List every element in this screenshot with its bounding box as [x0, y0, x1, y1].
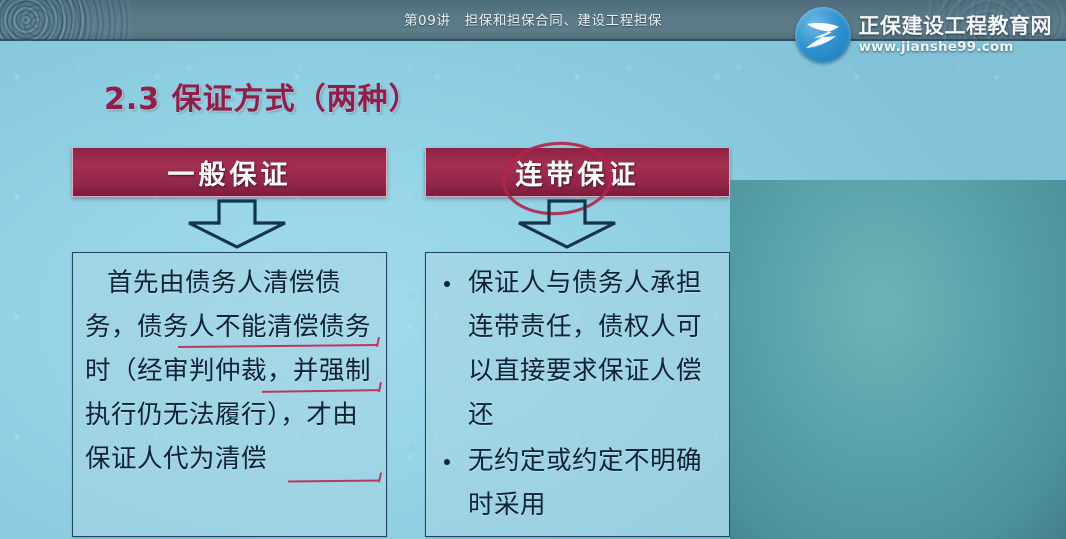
bullet-dot-icon [444, 459, 450, 465]
site-logo[interactable]: 正保建设工程教育网 www.jianshe99.com [795, 4, 1053, 66]
bullet-dot-icon [444, 281, 450, 287]
content-box-general-guarantee: 首先由债务人清偿债务，债务人不能清偿债务时（经审判仲裁，并强制执行仍无法履行），… [72, 252, 387, 537]
z-swoosh-glyph-icon [804, 19, 842, 51]
down-arrow-right-icon [515, 199, 619, 249]
column-header-label-left: 一般保证 [168, 153, 292, 192]
bullet-text: 保证人与债务人承担连带责任，债权人可以直接要求保证人偿还 [468, 268, 702, 430]
down-arrow-left-icon [185, 199, 289, 249]
column-header-general-guarantee: 一般保证 [72, 147, 387, 197]
slide-heading: 2.3 保证方式（两种） [104, 74, 420, 118]
bullet-text: 无约定或约定不明确时采用 [468, 446, 702, 520]
content-text-right: 保证人与债务人承担连带责任，债权人可以直接要求保证人偿还 无约定或约定不明确时采… [426, 253, 729, 536]
list-item: 无约定或约定不明确时采用 [438, 439, 719, 527]
bullet-list-right: 保证人与债务人承担连带责任，债权人可以直接要求保证人偿还 无约定或约定不明确时采… [438, 261, 719, 527]
down-arrow-left-glyph-icon [185, 199, 289, 249]
list-item: 保证人与债务人承担连带责任，债权人可以直接要求保证人偿还 [438, 261, 719, 437]
instructor-backdrop [730, 180, 1066, 539]
logo-z-swoosh-icon [795, 7, 851, 63]
logo-site-url: www.jianshe99.com [859, 39, 1053, 55]
video-player-frame: 第09讲 担保和担保合同、建设工程担保 正保建设工程教育网 www.jiansh… [0, 0, 1066, 539]
instructor-video-overlay [730, 180, 1066, 539]
content-box-joint-guarantee: 保证人与债务人承担连带责任，债权人可以直接要求保证人偿还 无约定或约定不明确时采… [425, 252, 730, 537]
content-text-left: 首先由债务人清偿债务，债务人不能清偿债务时（经审判仲裁，并强制执行仍无法履行），… [73, 253, 386, 536]
logo-site-name: 正保建设工程教育网 [859, 15, 1053, 37]
down-arrow-right-glyph-icon [515, 199, 619, 249]
logo-text-block: 正保建设工程教育网 www.jianshe99.com [859, 15, 1053, 55]
